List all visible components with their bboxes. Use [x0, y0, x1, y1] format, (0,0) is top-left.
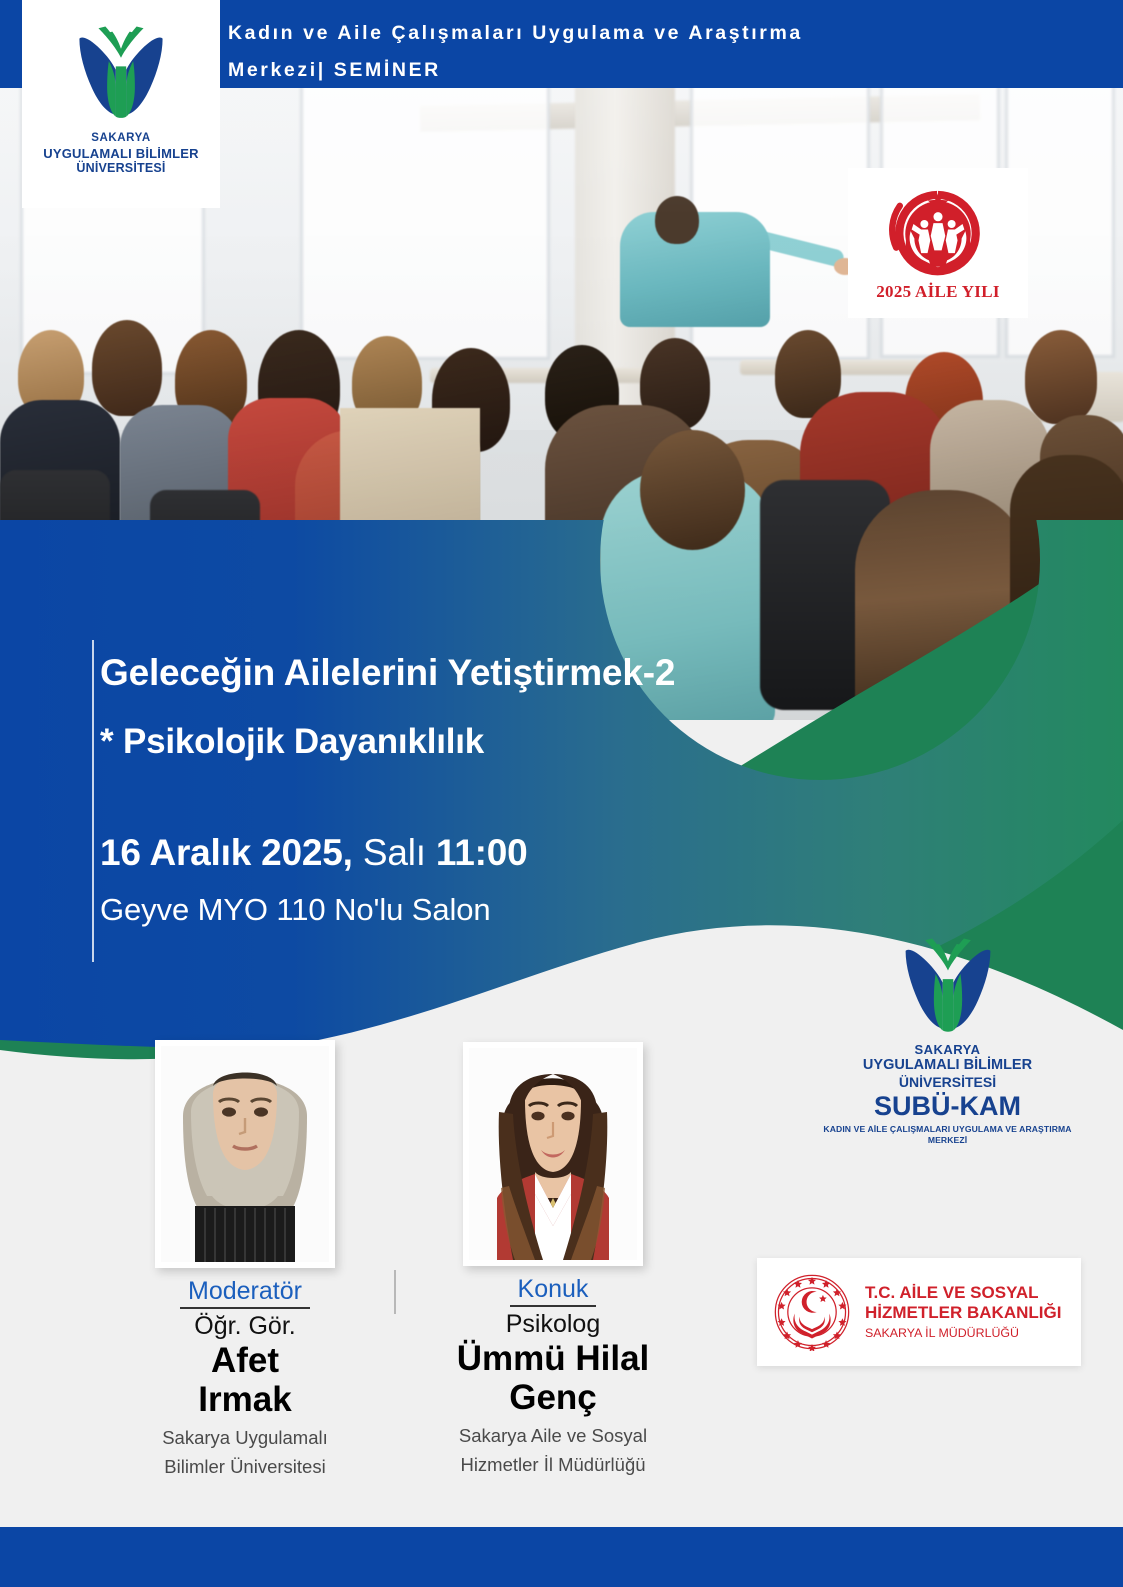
moderator-portrait-image [161, 1046, 329, 1262]
moderator-role-label: Moderatör [180, 1277, 310, 1309]
subukam-line3: ÜNİVERSİTESİ [815, 1074, 1080, 1090]
tulip-logo-icon [895, 938, 1001, 1038]
ministry-line2: HİZMETLER BAKANLIĞI [865, 1303, 1061, 1323]
moderator-affiliation-line2: Bilimler Üniversitesi [120, 1455, 370, 1478]
family-year-caption: 2025 AİLE YILI [876, 282, 1000, 302]
subukam-acronym: SUBÜ-KAM [815, 1091, 1080, 1122]
ministry-line1: T.C. AİLE VE SOSYAL [865, 1283, 1061, 1303]
moderator-affiliation-line1: Sakarya Uygulamalı [120, 1426, 370, 1449]
seminar-time: 11:00 [436, 832, 528, 873]
ministry-logo: T.C. AİLE VE SOSYAL HİZMETLER BAKANLIĞI … [757, 1258, 1081, 1366]
university-logo-line3: ÜNİVERSİTESİ [43, 161, 198, 176]
poster-footer-bar [0, 1527, 1123, 1587]
university-logo: SAKARYA UYGULAMALI BİLİMLER ÜNİVERSİTESİ [22, 0, 220, 208]
subukam-line1: SAKARYA [815, 1042, 1080, 1057]
speaker-card-guest: Konuk Psikolog Ümmü Hilal Genç Sakarya A… [418, 1042, 688, 1476]
family-hands-icon [883, 184, 993, 284]
speaker-divider [394, 1270, 396, 1314]
university-logo-line2: UYGULAMALI BİLİMLER [43, 146, 198, 161]
guest-name-line2: Genç [418, 1379, 688, 1418]
header-title-line2: Merkezi| SEMİNER [228, 59, 441, 82]
seminar-title: Geleceğin Ailelerini Yetiştirmek-2 [100, 650, 860, 696]
seminar-subtitle: * Psikolojik Dayanıklılık [100, 722, 860, 762]
guest-affiliation-line2: Hizmetler İl Müdürlüğü [418, 1453, 688, 1476]
tulip-logo-icon [69, 26, 173, 124]
moderator-photo [155, 1040, 335, 1268]
seminar-venue: Geyve MYO 110 No'lu Salon [100, 892, 860, 928]
seminar-datetime: 16 Aralık 2025, Salı 11:00 [100, 832, 860, 874]
ministry-seal-icon [773, 1273, 851, 1351]
guest-portrait-image [469, 1048, 637, 1260]
guest-affiliation-line1: Sakarya Aile ve Sosyal [418, 1424, 688, 1447]
guest-name-line1: Ümmü Hilal [418, 1340, 688, 1379]
seminar-weekday: Salı [353, 832, 436, 873]
header-title-line1: Kadın ve Aile Çalışmaları Uygulama ve Ar… [228, 22, 803, 45]
title-block: Geleceğin Ailelerini Yetiştirmek-2 * Psi… [100, 650, 860, 928]
subukam-center-name: KADIN VE AİLE ÇALIŞMALARI UYGULAMA VE AR… [815, 1124, 1080, 1145]
guest-role-label: Konuk [510, 1275, 597, 1307]
university-logo-line1: SAKARYA [43, 132, 198, 146]
family-year-logo: 2025 AİLE YILI [848, 168, 1028, 318]
ministry-line3: SAKARYA İL MÜDÜRLÜĞÜ [865, 1326, 1061, 1341]
seminar-date: 16 Aralık 2025, [100, 832, 353, 873]
title-vertical-rule [92, 640, 94, 962]
seminar-poster: Kadın ve Aile Çalışmaları Uygulama ve Ar… [0, 0, 1123, 1587]
subukam-line2: UYGULAMALI BİLİMLER [815, 1057, 1080, 1074]
moderator-name-line1: Afet [120, 1342, 370, 1381]
guest-title: Psikolog [418, 1310, 688, 1339]
speaker-card-moderator: Moderatör Öğr. Gör. Afet Irmak Sakarya U… [120, 1040, 370, 1478]
moderator-name-line2: Irmak [120, 1381, 370, 1420]
moderator-title: Öğr. Gör. [120, 1312, 370, 1341]
subu-kam-logo: SAKARYA UYGULAMALI BİLİMLER ÜNİVERSİTESİ… [815, 938, 1080, 1188]
guest-photo [463, 1042, 643, 1266]
